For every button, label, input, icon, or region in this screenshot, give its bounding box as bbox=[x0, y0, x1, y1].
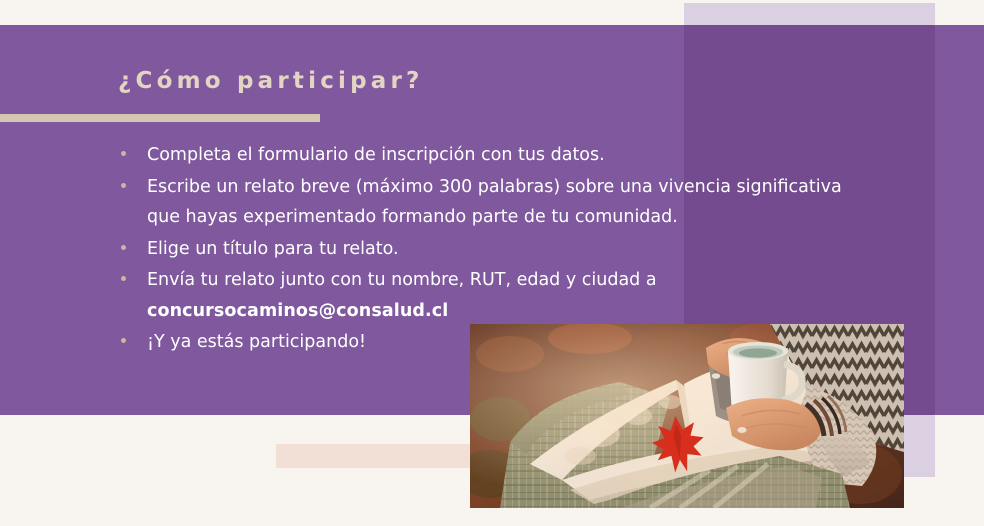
list-item-text: Elige un título para tu relato. bbox=[147, 234, 872, 265]
bullet-dot-icon bbox=[121, 183, 126, 188]
bullet-dot-icon bbox=[121, 276, 126, 281]
photo-illustration bbox=[470, 324, 904, 508]
list-item: Envía tu relato junto con tu nombre, RUT… bbox=[112, 265, 872, 326]
bullet-dot-icon bbox=[121, 151, 126, 156]
bullet-dot-icon bbox=[121, 245, 126, 250]
title-underline-rule bbox=[0, 114, 320, 122]
list-item: Escribe un relato breve (máximo 300 pala… bbox=[112, 172, 872, 233]
photo-reading-autumn bbox=[470, 324, 904, 508]
page-title: ¿Cómo participar? bbox=[118, 68, 424, 94]
bullet-dot-icon bbox=[121, 338, 126, 343]
list-item-text: Envía tu relato junto con tu nombre, RUT… bbox=[147, 265, 872, 296]
decor-peach-bar bbox=[276, 444, 470, 468]
slide-root: ¿Cómo participar? Completa el formulario… bbox=[0, 0, 984, 526]
contact-email[interactable]: concursocaminos@consalud.cl bbox=[147, 296, 872, 327]
list-item-text: Completa el formulario de inscripción co… bbox=[147, 140, 872, 171]
list-item-text: Escribe un relato breve (máximo 300 pala… bbox=[147, 172, 872, 233]
list-item: Elige un título para tu relato. bbox=[112, 234, 872, 265]
list-item: Completa el formulario de inscripción co… bbox=[112, 140, 872, 171]
